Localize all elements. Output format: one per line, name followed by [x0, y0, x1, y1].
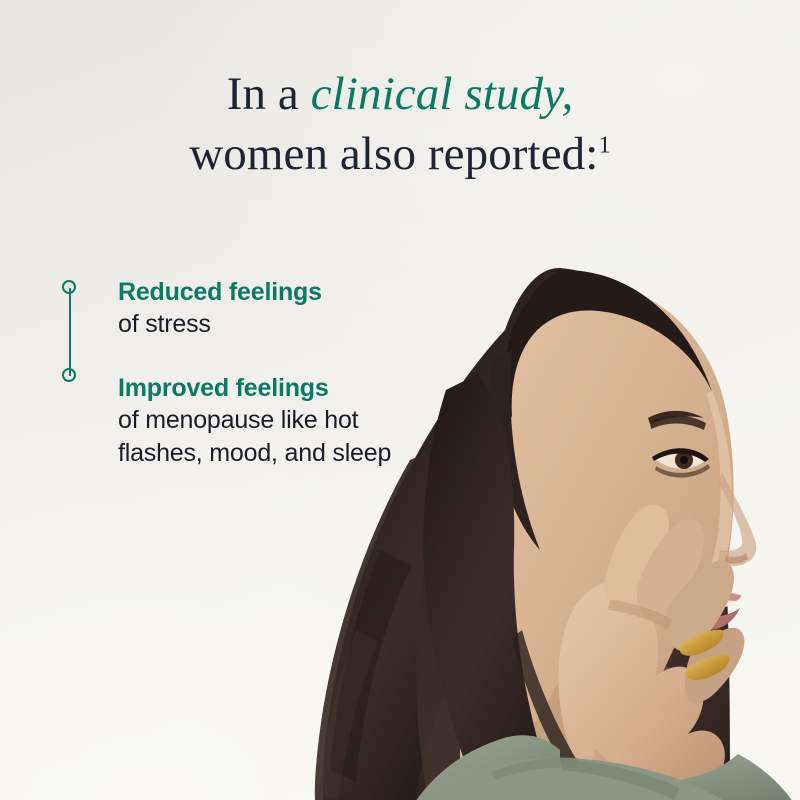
benefit-title: Reduced feelings — [118, 276, 394, 308]
headline-prefix: In a — [227, 68, 311, 120]
list-item: Improved feelings of menopause like hot … — [118, 372, 394, 470]
list-item: Reduced feelings of stress — [118, 276, 394, 341]
headline-line-1: In a clinical study, — [0, 64, 800, 124]
promo-graphic: In a clinical study, women also reported… — [0, 0, 800, 800]
headline-line-2-text: women also reported: — [189, 128, 598, 180]
footnote-marker: 1 — [598, 131, 610, 158]
pupil — [680, 456, 688, 464]
headline-line-2: women also reported:1 — [0, 124, 800, 184]
headline-accent: clinical study, — [311, 68, 574, 120]
bullet-rail — [62, 280, 78, 384]
benefit-body: of stress — [118, 308, 394, 341]
headline: In a clinical study, women also reported… — [0, 64, 800, 184]
circle-outline-icon — [62, 280, 76, 294]
rail-connector-line — [69, 288, 71, 376]
benefit-title: Improved feelings — [118, 372, 394, 404]
benefit-body: of menopause like hot flashes, mood, and… — [118, 404, 394, 470]
circle-outline-icon — [62, 368, 76, 382]
